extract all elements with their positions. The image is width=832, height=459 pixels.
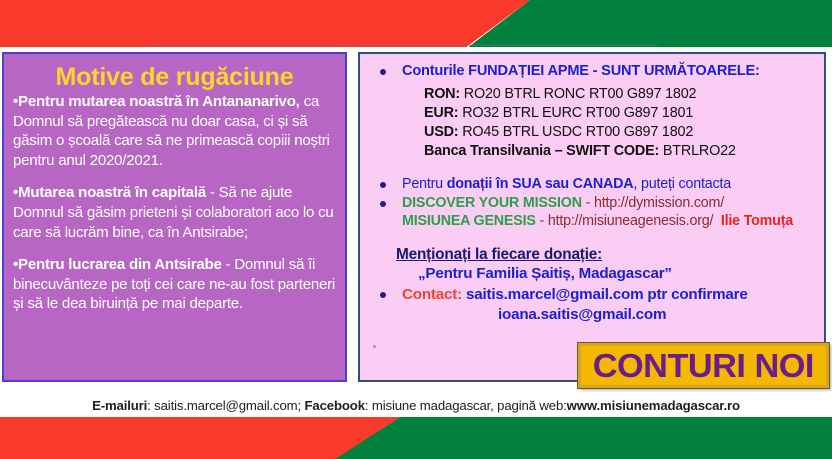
account-label-swift: Banca Transilvania – SWIFT CODE xyxy=(424,143,655,159)
prayer-item-3: •Pentru lucrarea din Antsirabe - Domnul … xyxy=(13,255,336,314)
accounts-heading-bold: FUNDAȚIEI APME - SUNT URMĂTOARELE: xyxy=(468,63,760,79)
account-sep-swift: : xyxy=(655,143,663,159)
conturi-noi-badge: CONTURI NOI xyxy=(578,343,829,388)
contact-suffix: ptr confirmare xyxy=(643,286,747,303)
page-title: Motive de rugăciune xyxy=(13,63,336,91)
mission-contact-person: Ilie Tomuța xyxy=(721,213,793,229)
prayer-item-2: •Mutarea noastră în capitală - Să ne aju… xyxy=(13,183,336,242)
mention-quote: „Pentru Familia Șaitiș, Madagascar” xyxy=(396,265,816,282)
account-iban-eur: RO32 BTRL EURC RT00 G897 1801 xyxy=(462,105,693,121)
missions-row: DISCOVER YOUR MISSION - http://dymission… xyxy=(368,194,816,231)
contact-line: Contact: saitis.marcel@gmail.com ptr con… xyxy=(402,286,748,303)
mission-name-genesis: MISIUNEA GENESIS xyxy=(402,213,536,229)
account-sep-ron: : xyxy=(455,86,463,102)
account-label-eur: EUR xyxy=(424,105,454,121)
donations-intro: Pentru donații în SUA sau CANADA, puteți… xyxy=(402,176,731,192)
account-sep-eur: : xyxy=(454,105,462,121)
footer-contact-line: E-mailuri: saitis.marcel@gmail.com; Face… xyxy=(92,398,740,413)
accounts-heading: Conturile FUNDAȚIEI APME - SUNT URMĂTOAR… xyxy=(402,63,760,79)
mission-url-genesis[interactable]: http://misiuneagenesis.org/ xyxy=(548,213,713,229)
prayer-item-2-lead: Mutarea noastră în capitală xyxy=(18,184,206,201)
account-value-swift: BTRLRO22 xyxy=(663,143,736,159)
accounts-heading-row: Conturile FUNDAȚIEI APME - SUNT URMĂTOAR… xyxy=(368,62,816,80)
contact-sep: : xyxy=(457,286,466,303)
mission-name-dymission: DISCOVER YOUR MISSION xyxy=(402,195,582,211)
account-iban-usd: RO45 BTRL USDC RT00 G897 1802 xyxy=(462,124,693,140)
footer-facebook-sep: : xyxy=(365,398,372,413)
stray-bullet-dot xyxy=(373,345,376,348)
mission-line-genesis: MISIUNEA GENESIS - http://misiuneagenesi… xyxy=(402,212,816,230)
footer-facebook-label: Facebook xyxy=(305,398,365,413)
account-sep-usd: : xyxy=(454,124,462,140)
footer-website[interactable]: www.misiunemadagascar.ro xyxy=(567,398,740,413)
donations-intro-bold: donații în SUA sau CANADA xyxy=(447,176,634,192)
mission-dash-genesis: - xyxy=(536,213,548,229)
donations-intro-row: Pentru donații în SUA sau CANADA, puteți… xyxy=(368,175,816,193)
footer-strip: E-mailuri: saitis.marcel@gmail.com; Face… xyxy=(0,392,832,418)
prayer-requests-panel: Motive de rugăciune •Pentru mutarea noas… xyxy=(2,52,347,382)
conturi-noi-label: CONTURI NOI xyxy=(593,347,814,385)
account-iban-ron: RO20 BTRL RONC RT00 G897 1802 xyxy=(464,86,697,102)
account-label-ron: RON xyxy=(424,86,455,102)
donations-intro-pre: Pentru xyxy=(402,176,447,192)
account-row-eur: EUR: RO32 BTRL EURC RT00 G897 1801 xyxy=(424,104,816,123)
spacer-1 xyxy=(368,161,816,175)
slide-canvas: Motive de rugăciune •Pentru mutarea noas… xyxy=(0,0,832,459)
header-artefact-line xyxy=(148,44,658,46)
prayer-item-1: •Pentru mutarea noastră în Antananarivo,… xyxy=(13,92,336,170)
contact-email-primary[interactable]: saitis.marcel@gmail.com xyxy=(466,286,643,303)
contact-email-secondary[interactable]: ioana.saitis@gmail.com xyxy=(402,305,816,325)
donation-info-panel: Conturile FUNDAȚIEI APME - SUNT URMĂTOAR… xyxy=(358,52,826,382)
mission-dash-dymission: - xyxy=(582,195,594,211)
footer-email-label: E-mailuri xyxy=(92,398,147,413)
account-row-swift: Banca Transilvania – SWIFT CODE: BTRLRO2… xyxy=(424,142,816,161)
top-banner xyxy=(0,0,832,47)
accounts-heading-plain: Conturile xyxy=(402,63,468,79)
footer-email-value[interactable]: saitis.marcel@gmail.com; xyxy=(154,398,304,413)
contact-label: Contact xyxy=(402,286,457,303)
donations-intro-post: , puteți contacta xyxy=(633,176,731,192)
mission-url-dymission[interactable]: http://dymission.com/ xyxy=(594,195,724,211)
top-banner-red-band xyxy=(0,0,530,47)
account-row-usd: USD: RO45 BTRL USDC RT00 G897 1802 xyxy=(424,123,816,142)
account-label-usd: USD xyxy=(424,124,454,140)
contact-row: Contact: saitis.marcel@gmail.com ptr con… xyxy=(368,285,816,325)
mention-title: Menționați la fiecare donație: xyxy=(396,246,816,264)
prayer-item-1-lead: Pentru mutarea noastră în Antananarivo, xyxy=(18,93,300,110)
bottom-banner-red-band xyxy=(0,417,400,459)
prayer-item-3-lead: Pentru lucrarea din Antsirabe xyxy=(18,256,222,273)
bottom-banner xyxy=(0,417,832,459)
bank-accounts-list: RON: RO20 BTRL RONC RT00 G897 1802 EUR: … xyxy=(368,85,816,161)
mention-block: Menționați la fiecare donație: „Pentru F… xyxy=(368,246,816,282)
footer-facebook-value: misiune madagascar, pagină web: xyxy=(372,398,567,413)
mission-line-dymission: DISCOVER YOUR MISSION - http://dymission… xyxy=(402,194,816,212)
account-row-ron: RON: RO20 BTRL RONC RT00 G897 1802 xyxy=(424,85,816,104)
